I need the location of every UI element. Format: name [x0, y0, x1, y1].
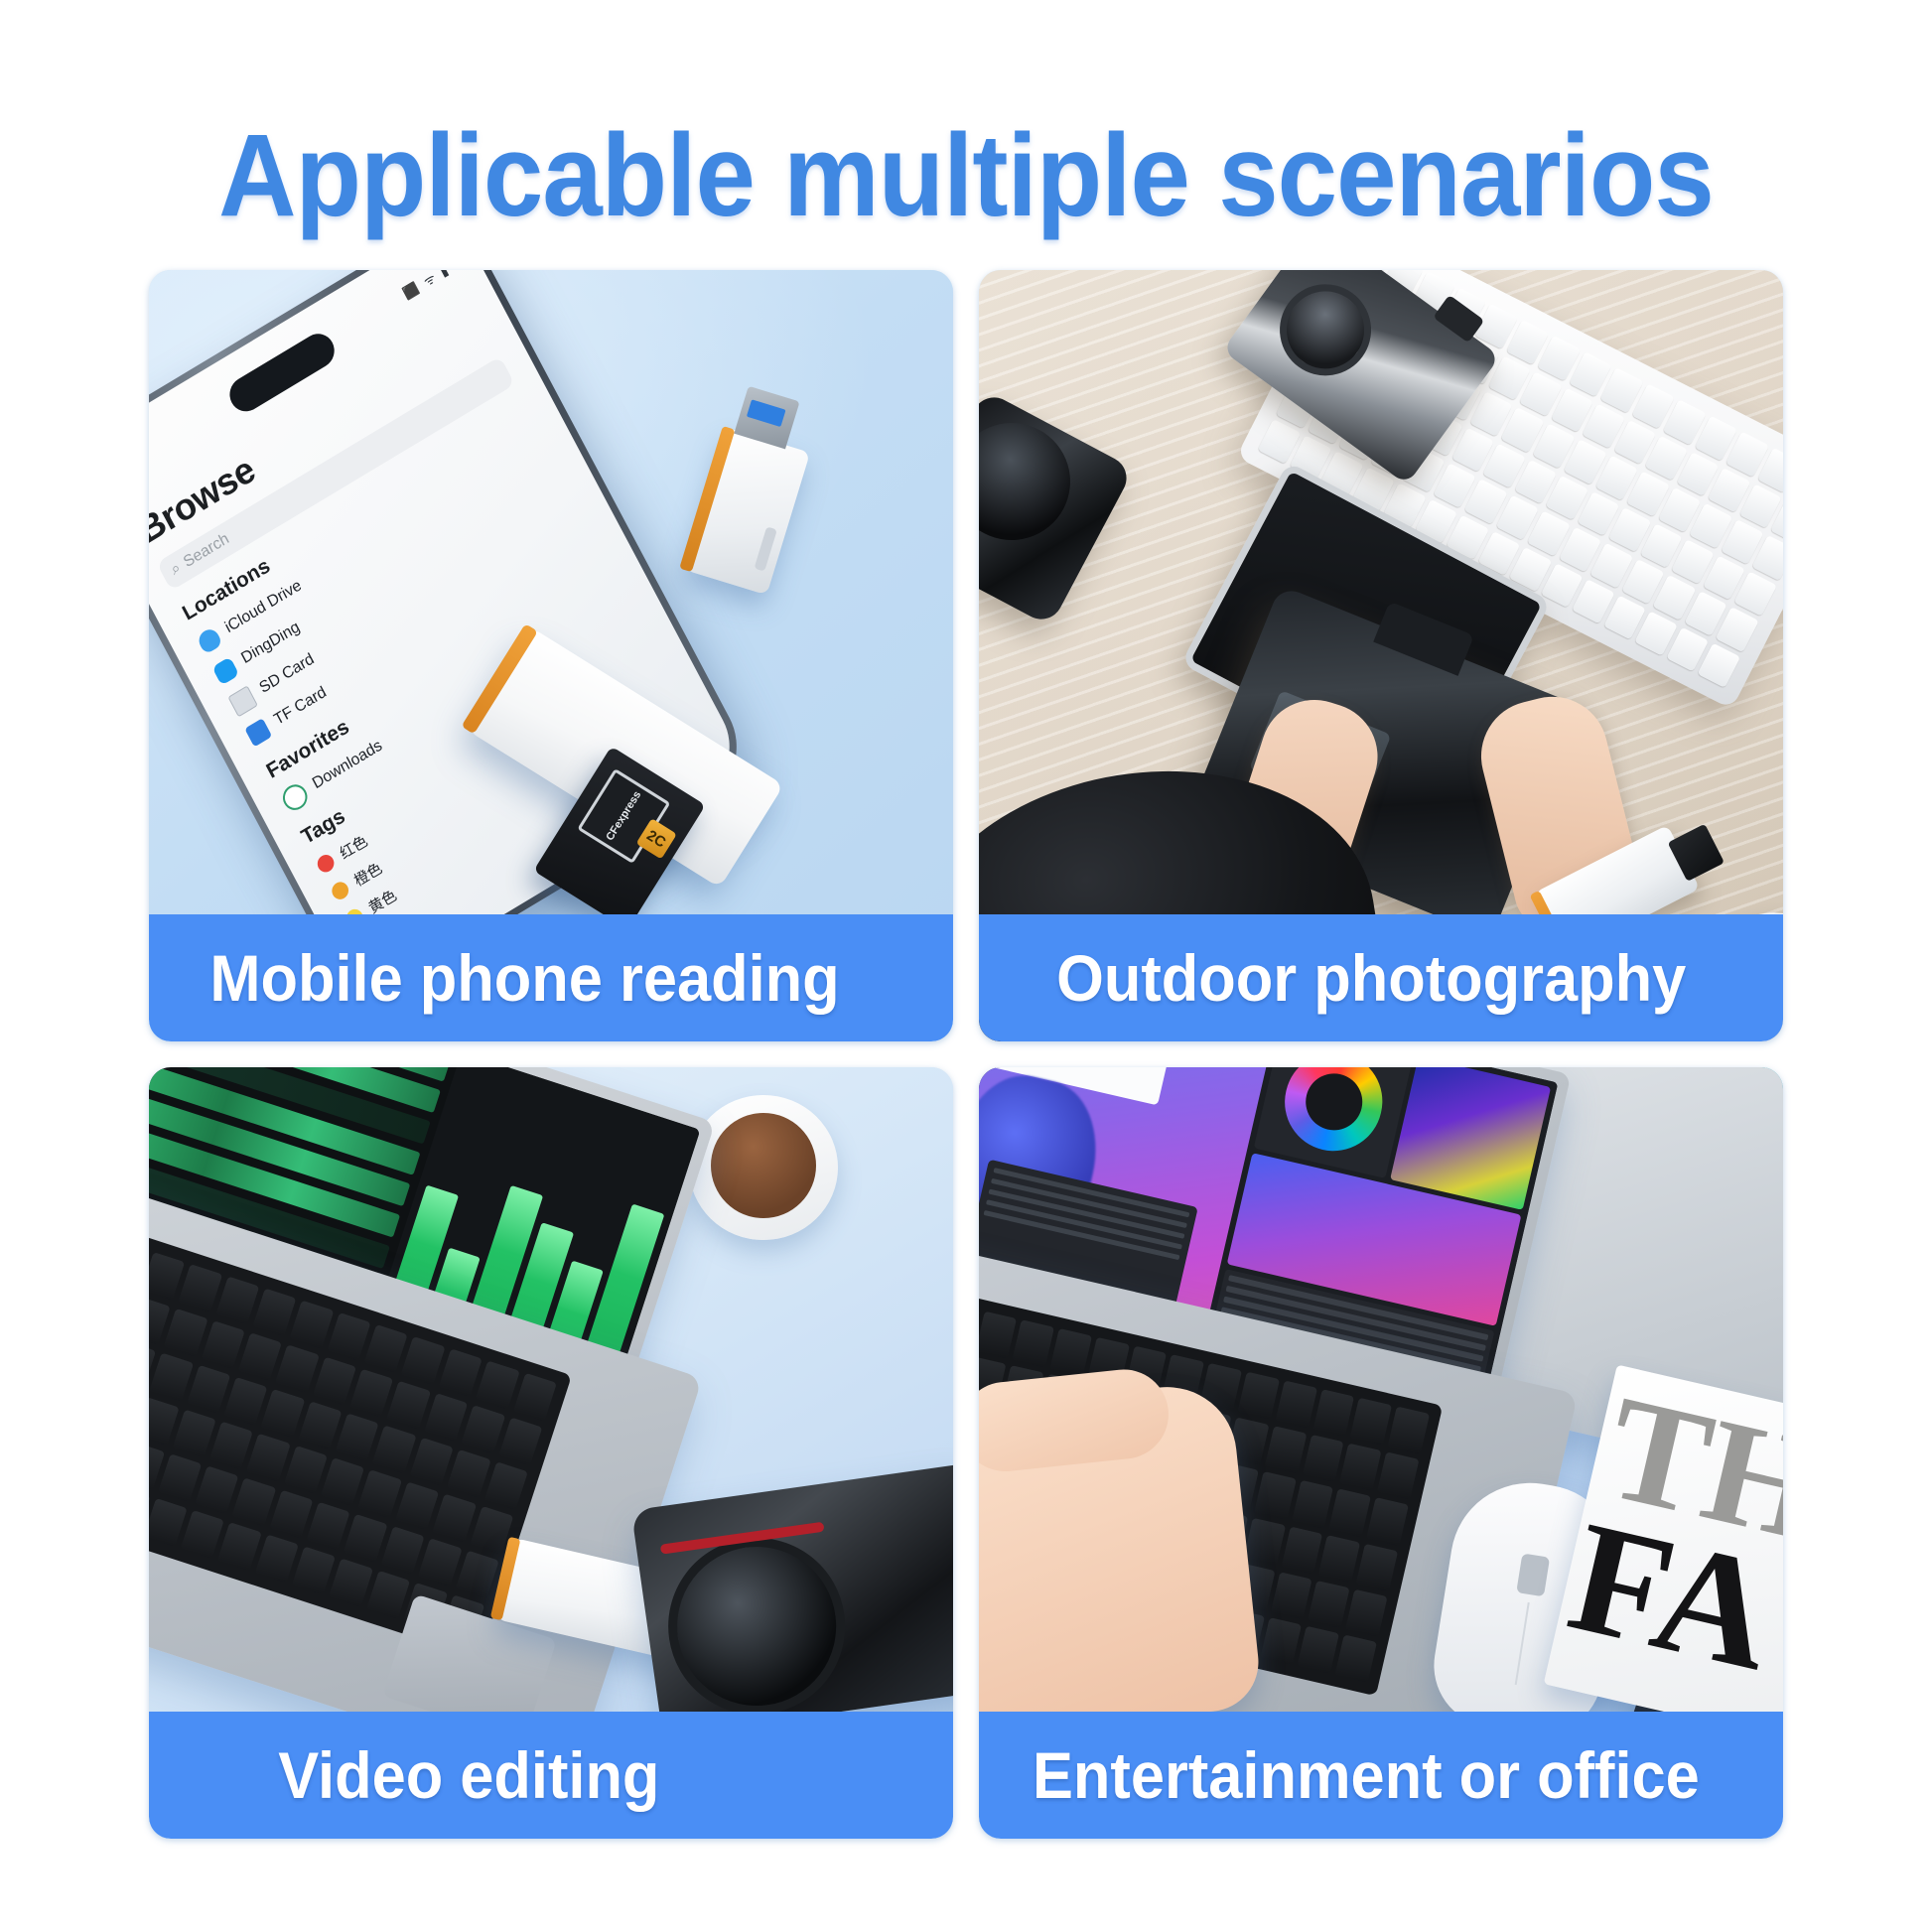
- download-icon: [278, 779, 311, 814]
- magazine-headline-line2: FA: [1561, 1511, 1783, 1680]
- caption-label: Entertainment or office: [979, 1742, 1700, 1808]
- status-time: 09:23: [149, 441, 152, 476]
- caption-label: Outdoor photography: [979, 945, 1686, 1011]
- panel-caption-bar: Mobile phone reading: [149, 914, 953, 1041]
- tag-color-dot: [315, 852, 338, 876]
- caption-label: Mobile phone reading: [149, 945, 840, 1011]
- tag-label: 红色: [336, 830, 371, 864]
- dingding-icon: [211, 656, 239, 685]
- panel-caption-bar: Outdoor photography: [979, 914, 1783, 1041]
- coffee-cup: [689, 1095, 838, 1240]
- panel-entertainment-or-office[interactable]: The Adv TH FA Entertainment or office: [979, 1067, 1783, 1839]
- status-icons: ⬛ ᯤ ▮: [400, 270, 453, 303]
- cloud-icon: [196, 625, 223, 654]
- panel-mobile-phone-reading[interactable]: 09:23 ⬛ ᯤ ▮ Browse ⌕ Search Locations iC…: [149, 270, 953, 1041]
- vectorscope: [1390, 1067, 1551, 1210]
- panel-caption-bar: Entertainment or office: [979, 1712, 1783, 1839]
- scenario-grid: 09:23 ⬛ ᯤ ▮ Browse ⌕ Search Locations iC…: [149, 270, 1783, 1839]
- tag-label: 橙色: [350, 857, 386, 891]
- caption-label: Video editing: [149, 1742, 659, 1808]
- tag-label: 黄色: [364, 885, 400, 918]
- mouse-button-divider: [1515, 1602, 1530, 1685]
- card-slot: [754, 526, 776, 571]
- color-wheel-icon: [1275, 1067, 1392, 1161]
- tag-color-dot: [329, 879, 351, 902]
- search-icon: ⌕: [168, 559, 184, 580]
- sd-card-icon: [227, 685, 258, 717]
- search-placeholder: Search: [181, 530, 232, 572]
- page-title: Applicable multiple scenarios: [77, 117, 1855, 234]
- panel-outdoor-photography[interactable]: Outdoor photography: [979, 270, 1783, 1041]
- dslr-camera-lens: [631, 1462, 953, 1736]
- tf-card-icon: [244, 718, 272, 747]
- hand-typing: [979, 1380, 1263, 1737]
- panel-video-editing[interactable]: Video editing: [149, 1067, 953, 1839]
- panel-caption-bar: Video editing: [149, 1712, 953, 1839]
